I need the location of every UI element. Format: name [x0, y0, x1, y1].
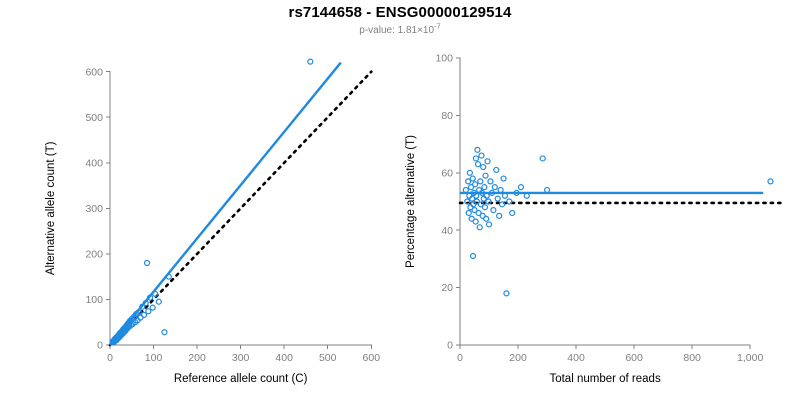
data-point: [467, 170, 472, 175]
x-axis-tick-label: 0: [107, 352, 113, 364]
reference-diagonal-line: [110, 72, 371, 345]
x-axis-tick-label: 0: [457, 352, 463, 364]
y-axis-tick-label: 80: [441, 110, 453, 122]
data-point: [153, 291, 158, 296]
y-axis-tick-label: 100: [435, 53, 453, 65]
data-point: [481, 165, 486, 170]
data-point: [768, 179, 773, 184]
x-axis-tick-label: 800: [683, 352, 701, 364]
x-axis-tick-label: 600: [363, 352, 381, 364]
data-point: [483, 173, 488, 178]
data-point: [501, 176, 506, 181]
data-point-group: [463, 147, 773, 296]
data-point: [477, 225, 482, 230]
data-point: [473, 182, 478, 187]
data-point: [150, 305, 155, 310]
data-point: [470, 176, 475, 181]
data-point: [484, 216, 489, 221]
fitted-regression-line: [110, 63, 341, 345]
data-point: [540, 156, 545, 161]
y-axis-tick-label: 500: [85, 112, 103, 124]
data-point: [141, 312, 146, 317]
scatter-plot-allele-counts: 01002003004005006000100200300400500600Re…: [0, 0, 400, 400]
data-point: [494, 167, 499, 172]
y-axis-tick-label: 300: [85, 203, 103, 215]
y-axis-tick-label: 0: [447, 340, 453, 352]
data-point: [487, 222, 492, 227]
data-point: [145, 261, 150, 266]
scatter-plot-percentage-alternative: 02040608010002004006008001,000Total numb…: [400, 0, 800, 400]
y-axis-line: [456, 58, 460, 345]
data-point: [475, 147, 480, 152]
y-axis-tick-label: 600: [85, 66, 103, 78]
panel-reference-vs-alternative: 01002003004005006000100200300400500600Re…: [0, 0, 400, 400]
x-axis-tick-label: 400: [275, 352, 293, 364]
data-point: [497, 213, 502, 218]
x-axis-tick-label: 1,000: [737, 352, 763, 364]
x-axis-tick-label: 200: [509, 352, 527, 364]
data-point: [479, 153, 484, 158]
data-point: [482, 205, 487, 210]
data-point: [473, 219, 478, 224]
data-point: [471, 254, 476, 259]
data-point: [491, 208, 496, 213]
figure-container: rs7144658 - ENSG00000129514 p-value: 1.8…: [0, 0, 800, 400]
x-axis-title: Reference allele count (C): [174, 373, 308, 385]
data-point: [495, 196, 500, 201]
data-point: [473, 156, 478, 161]
data-point: [308, 59, 313, 64]
data-point: [466, 210, 471, 215]
x-axis-tick-label: 200: [188, 352, 206, 364]
x-axis-tick-label: 300: [232, 352, 250, 364]
x-axis-title: Total number of reads: [549, 373, 660, 385]
data-point: [146, 309, 151, 314]
data-point: [492, 185, 497, 190]
data-point: [156, 299, 161, 304]
y-axis-title: Percentage alternative (T): [405, 135, 417, 268]
data-point: [162, 330, 167, 335]
data-point: [500, 202, 505, 207]
y-axis-tick-label: 60: [441, 167, 453, 179]
y-axis-tick-label: 40: [441, 225, 453, 237]
y-axis-tick-label: 20: [441, 282, 453, 294]
data-point-group: [110, 59, 313, 345]
data-point: [475, 162, 480, 167]
y-axis-tick-label: 400: [85, 157, 103, 169]
x-axis-tick-label: 500: [319, 352, 337, 364]
data-point: [510, 210, 515, 215]
x-axis-line: [460, 345, 750, 349]
x-axis-tick-label: 400: [567, 352, 585, 364]
panel-percentage-vs-reads: 02040608010002004006008001,000Total numb…: [400, 0, 800, 400]
y-axis-tick-label: 100: [85, 294, 103, 306]
data-point: [507, 199, 512, 204]
data-point: [504, 291, 509, 296]
y-axis-tick-label: 200: [85, 248, 103, 260]
data-point: [518, 185, 523, 190]
y-axis-tick-label: 0: [97, 340, 103, 352]
data-point: [485, 159, 490, 164]
x-axis-tick-label: 100: [145, 352, 163, 364]
x-axis-tick-label: 600: [625, 352, 643, 364]
data-point: [478, 179, 483, 184]
data-point: [482, 185, 487, 190]
data-point: [488, 179, 493, 184]
y-axis-title: Alternative allele count (T): [45, 141, 57, 275]
